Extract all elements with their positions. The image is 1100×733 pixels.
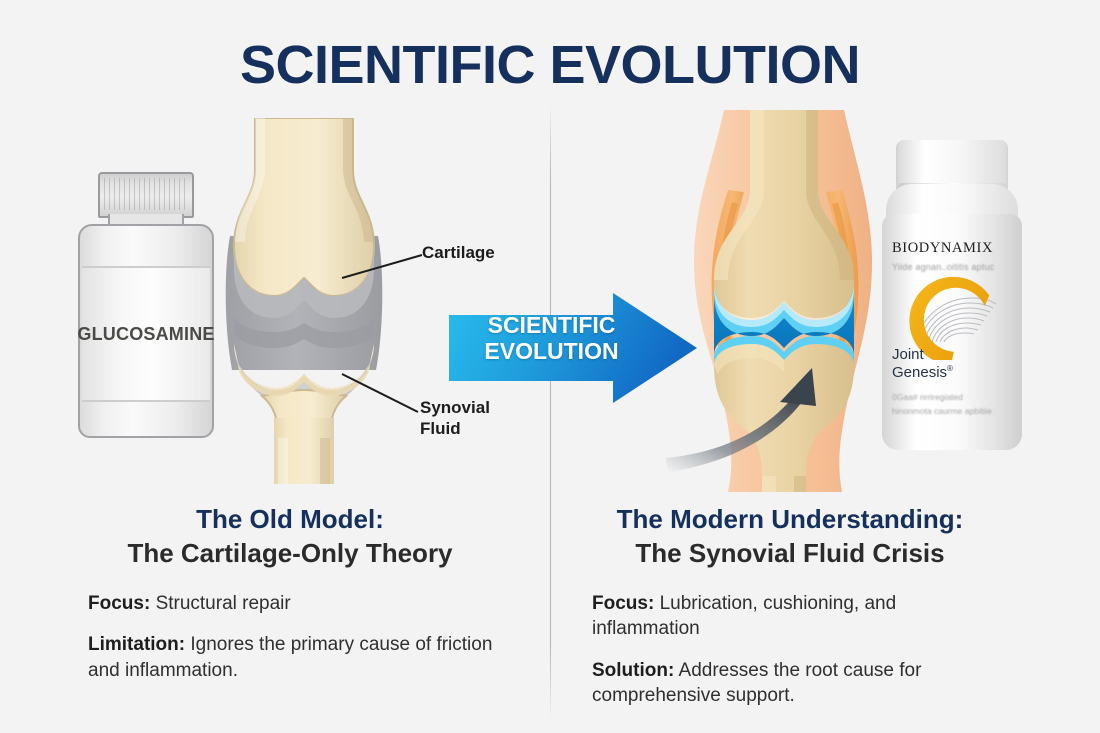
swoosh-lines — [916, 298, 996, 342]
glucosamine-bottle-label: GLUCOSAMINE — [82, 266, 210, 402]
synovial-fluid-leader-line — [340, 372, 422, 416]
product-subtext-line1: 0Gaa# nrriregiated — [892, 392, 1014, 402]
infographic-canvas: SCIENTIFIC EVOLUTION GLUCOSAMINE — [0, 0, 1100, 733]
scientific-evolution-arrow: SCIENTIFIC EVOLUTION — [447, 293, 699, 403]
callout-cartilage: Cartilage — [422, 243, 495, 263]
left-point-limitation-label: Limitation: — [88, 634, 185, 655]
left-point-limitation: Limitation: Ignores the primary cause of… — [88, 632, 518, 683]
product-name-line2-text: Genesis — [892, 364, 947, 381]
page-title: SCIENTIFIC EVOLUTION — [0, 34, 1100, 96]
brand-subtext: Yiide agnan..oititis aptuc — [892, 262, 1014, 272]
column-divider — [550, 105, 551, 720]
arrow-shape — [449, 293, 697, 403]
joint-genesis-bottle-label: BIODYNAMIX Yiide agnan..oititis aptuc — [892, 240, 1014, 430]
product-name-line2: Genesis® — [892, 364, 1014, 382]
product-name-line1: Joint — [892, 346, 1014, 364]
left-point-focus-label: Focus: — [88, 593, 150, 614]
left-column-body: Focus: Structural repair Limitation: Ign… — [88, 591, 518, 699]
right-heading-line1: The Modern Understanding: — [560, 503, 1020, 537]
right-heading-line2: The Synovial Fluid Crisis — [560, 537, 1020, 571]
right-column-body: Focus: Lubrication, cushioning, and infl… — [592, 591, 972, 724]
callout-synovial-fluid: Synovial Fluid — [420, 398, 516, 439]
glucosamine-bottle-body: GLUCOSAMINE — [78, 224, 214, 438]
left-column-heading: The Old Model: The Cartilage-Only Theory — [60, 503, 520, 571]
registered-mark: ® — [947, 364, 953, 373]
modern-knee-diagram — [666, 110, 896, 492]
right-point-focus-label: Focus: — [592, 593, 654, 614]
left-point-focus: Focus: Structural repair — [88, 591, 518, 616]
right-point-focus: Focus: Lubrication, cushioning, and infl… — [592, 591, 972, 642]
right-point-solution: Solution: Addresses the root cause for c… — [592, 658, 972, 709]
left-heading-line1: The Old Model: — [60, 503, 520, 537]
callout-synovial-line2: Fluid — [420, 419, 516, 440]
brand-name: BIODYNAMIX — [892, 240, 1014, 257]
old-model-knee-diagram — [222, 118, 386, 484]
left-point-focus-text: Structural repair — [156, 593, 291, 614]
glucosamine-bottle: GLUCOSAMINE — [76, 172, 216, 440]
cartilage-leader-line — [340, 248, 426, 282]
right-column-heading: The Modern Understanding: The Synovial F… — [560, 503, 1020, 571]
joint-genesis-bottle: BIODYNAMIX Yiide agnan..oititis aptuc — [878, 140, 1026, 452]
product-subtext-line2: hinonmota caurme apbitiie — [892, 406, 1014, 416]
left-heading-line2: The Cartilage-Only Theory — [60, 537, 520, 571]
right-point-solution-label: Solution: — [592, 660, 674, 681]
glucosamine-bottle-cap — [98, 172, 194, 218]
product-name: Joint Genesis® — [892, 346, 1014, 383]
glucosamine-label-text: GLUCOSAMINE — [77, 324, 214, 345]
cap-ribs — [104, 178, 188, 210]
